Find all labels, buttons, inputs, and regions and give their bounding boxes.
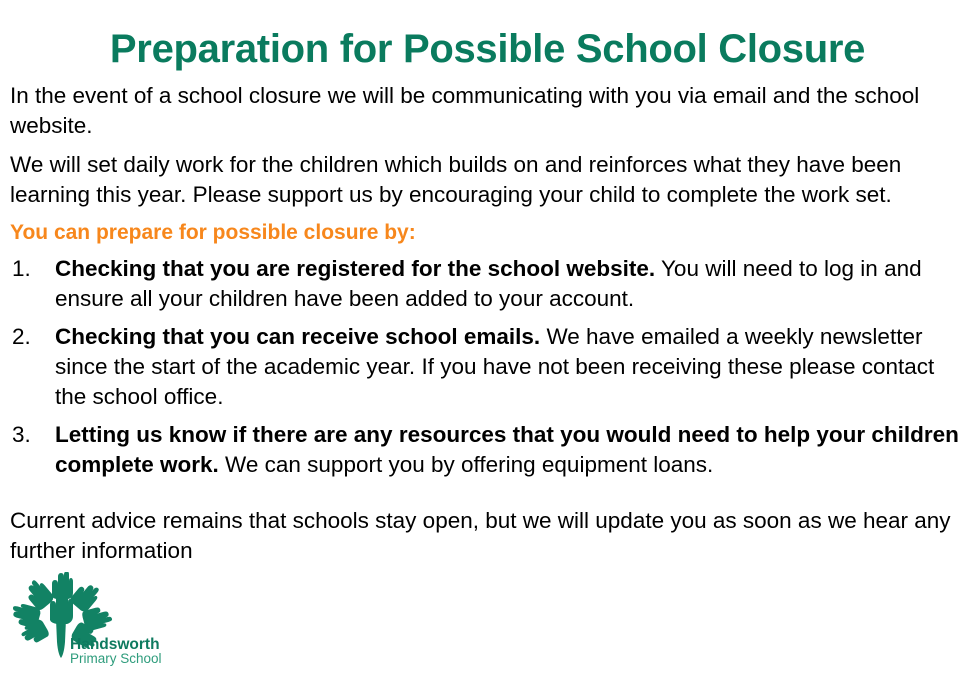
hand-tree-logo-icon: Handsworth Primary School	[8, 572, 198, 672]
list-item-number: 2.	[12, 322, 44, 352]
school-logo: Handsworth Primary School	[8, 572, 198, 672]
intro-paragraph-1: In the event of a school closure we will…	[10, 81, 965, 141]
section-heading: You can prepare for possible closure by:	[10, 210, 965, 248]
list-item: 3.Letting us know if there are any resou…	[10, 420, 965, 480]
list-item: 2.Checking that you can receive school e…	[10, 322, 965, 412]
intro-paragraph-2: We will set daily work for the children …	[10, 150, 965, 210]
closing-paragraph: Current advice remains that schools stay…	[10, 488, 965, 566]
document-page: Preparation for Possible School Closure …	[0, 0, 975, 689]
list-item-rest: We can support you by offering equipment…	[219, 452, 713, 477]
list-item-number: 3.	[12, 420, 44, 450]
page-title: Preparation for Possible School Closure	[10, 0, 965, 69]
list-item-lead: Checking that you can receive school ema…	[55, 324, 540, 349]
list-item: 1.Checking that you are registered for t…	[10, 254, 965, 314]
preparation-steps-list: 1.Checking that you are registered for t…	[10, 248, 965, 480]
list-item-number: 1.	[12, 254, 44, 284]
list-item-lead: Checking that you are registered for the…	[55, 256, 655, 281]
logo-name-line-2: Primary School	[70, 651, 162, 666]
